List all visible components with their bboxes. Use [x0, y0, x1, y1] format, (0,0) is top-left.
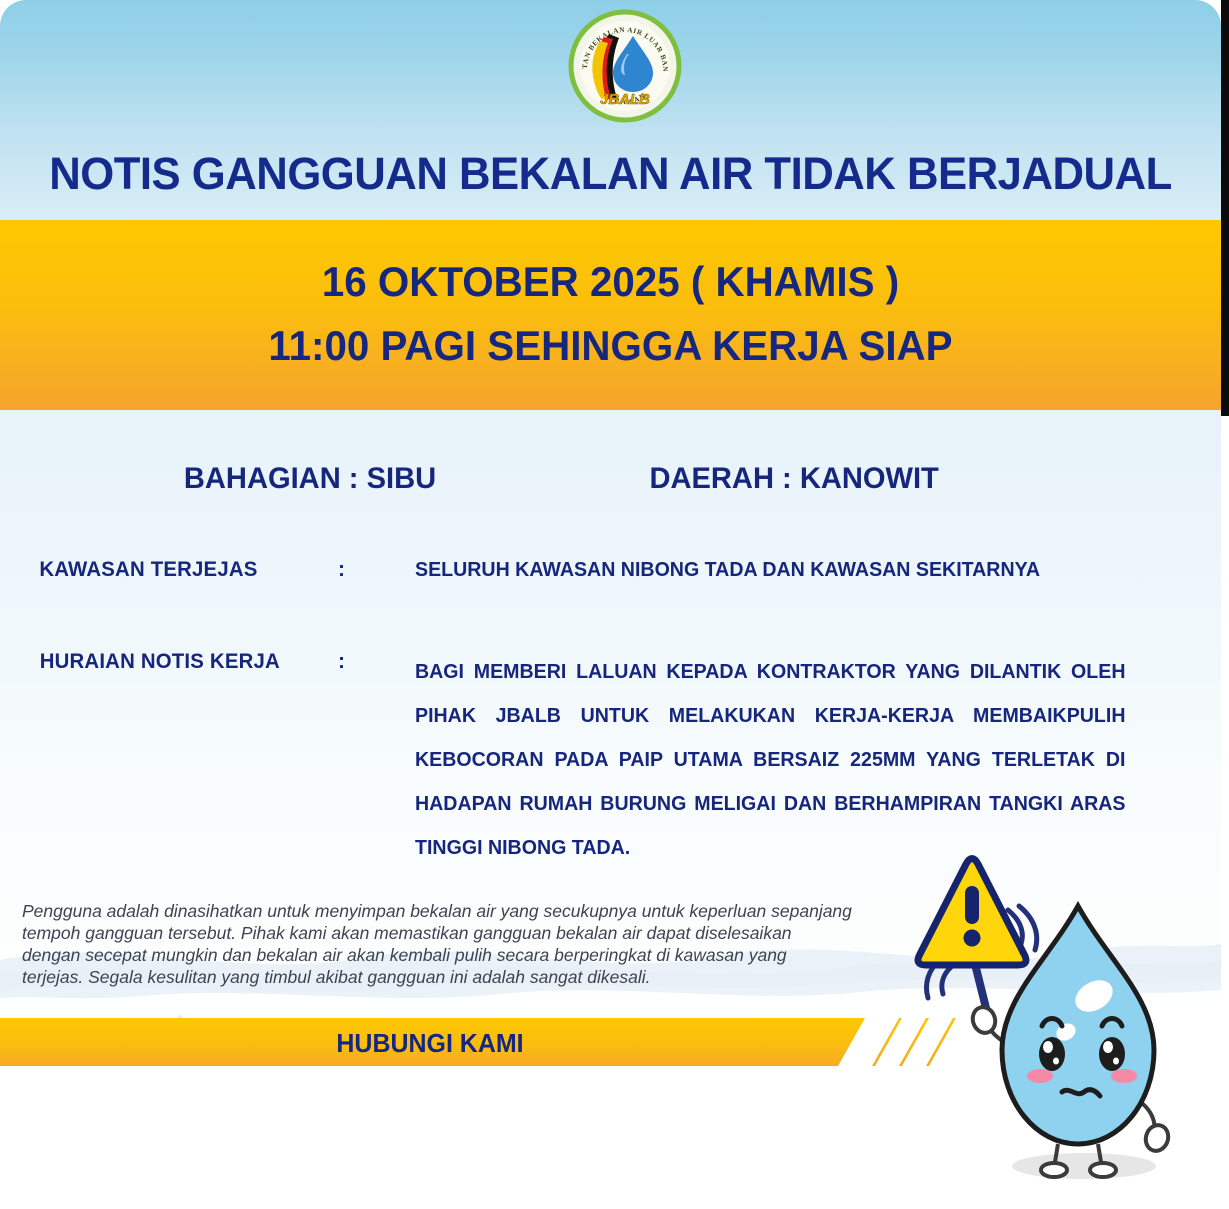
- huraian-value: BAGI MEMBERI LALUAN KEPADA KONTRAKTOR YA…: [415, 650, 1126, 870]
- svg-text:JBALB: JBALB: [600, 91, 650, 108]
- notice-time: 11:00 PAGI SEHINGGA KERJA SIAP: [24, 322, 1196, 370]
- page-title: NOTIS GANGGUAN BEKALAN AIR TIDAK BERJADU…: [18, 148, 1202, 200]
- contact-bar-title: HUBUNGI KAMI: [17, 1028, 843, 1059]
- kawasan-label: KAWASAN TERJEJAS: [39, 558, 257, 582]
- date-banner: 16 OKTOBER 2025 ( KHAMIS ) 11:00 PAGI SE…: [0, 220, 1221, 410]
- daerah-label: DAERAH : KANOWIT: [649, 462, 938, 496]
- huraian-label: HURAIAN NOTIS KERJA: [40, 650, 280, 674]
- right-edge-strip: [1221, 0, 1229, 416]
- water-supply-disruption-notice-poster: JABATAN BEKALAN AIR LUAR BANDAR SARAWAK …: [0, 0, 1229, 1209]
- huraian-colon: :: [338, 650, 345, 674]
- advisory-paragraph: Pengguna adalah dinasihatkan untuk menyi…: [22, 900, 852, 988]
- bahagian-label: BAHAGIAN : SIBU: [184, 462, 436, 496]
- notice-date: 16 OKTOBER 2025 ( KHAMIS ): [24, 258, 1196, 306]
- jbalb-sarawak-logo: JABATAN BEKALAN AIR LUAR BANDAR SARAWAK …: [567, 8, 683, 124]
- contact-footer: CALL CENTRE JBALB SARAWAK 082-262211 JBA…: [0, 1072, 1221, 1202]
- header-band: JABATAN BEKALAN AIR LUAR BANDAR SARAWAK …: [0, 0, 1221, 220]
- kawasan-value: SELURUH KAWASAN NIBONG TADA DAN KAWASAN …: [415, 558, 1126, 582]
- kawasan-colon: :: [338, 558, 345, 582]
